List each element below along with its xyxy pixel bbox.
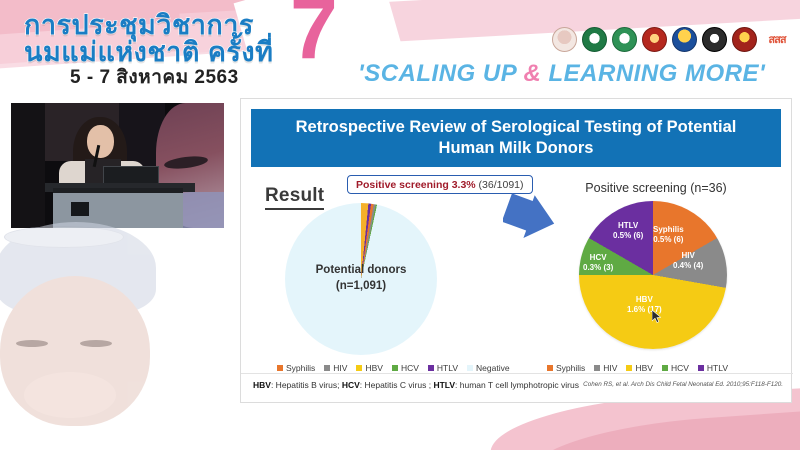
- legend2-item-syphilis[interactable]: Syphilis: [547, 363, 585, 373]
- legend2-label-hbv: HBV: [635, 363, 652, 373]
- tagline-ampersand: &: [524, 60, 542, 87]
- sponsor-logo-row: สสส: [552, 25, 792, 53]
- footnote-key-htlv: HTLV: [433, 380, 455, 390]
- legend-item-syphilis[interactable]: Syphilis: [277, 363, 315, 373]
- potential-donors-label-line-1: Potential donors: [285, 263, 437, 279]
- slice-value-hiv: 0.4% (4): [673, 261, 703, 271]
- legend2-swatch-htlv: [698, 365, 704, 371]
- screen: การประชุมวิชาการ นมแม่แห่งชาติ ครั้งที่ …: [0, 0, 800, 450]
- baby-watermark-image: [0, 222, 172, 422]
- slice-name-hbv: HBV: [627, 295, 662, 305]
- legend2-item-hiv[interactable]: HIV: [594, 363, 617, 373]
- potential-donors-label-line-2: (n=1,091): [285, 279, 437, 295]
- legend2-label-hcv: HCV: [671, 363, 689, 373]
- watermark-baby-eye-left: [16, 340, 48, 347]
- pie-slice-label-htlv: HTLV 0.5% (6): [613, 221, 643, 242]
- positive-screening-pie-chart[interactable]: [579, 201, 727, 349]
- podium-badge: [71, 202, 89, 216]
- pie-slice-label-hiv: HIV 0.4% (4): [673, 251, 703, 272]
- footnote-text-hbv: : Hepatitis B virus;: [271, 380, 342, 390]
- footnote-text-htlv: : human T cell lymphotropic virus: [455, 380, 579, 390]
- slice-value-syphilis: 0.5% (6): [653, 235, 684, 245]
- legend2-item-hcv[interactable]: HCV: [662, 363, 689, 373]
- legend-swatch-hiv: [324, 365, 330, 371]
- conference-date: 5 - 7 สิงหาคม 2563: [70, 62, 239, 92]
- legend-item-htlv[interactable]: HTLV: [428, 363, 458, 373]
- logo-green-seal-2: [612, 27, 637, 52]
- conference-header-banner: การประชุมวิชาการ นมแม่แห่งชาติ ครั้งที่ …: [0, 0, 800, 92]
- slice-name-hiv: HIV: [673, 251, 703, 261]
- footnote-text-hcv: : Hepatitis C virus ;: [360, 380, 434, 390]
- slice-name-htlv: HTLV: [613, 221, 643, 231]
- logo-black-seal: [702, 27, 727, 52]
- legend-label-htlv: HTLV: [437, 363, 458, 373]
- legend2-item-htlv[interactable]: HTLV: [698, 363, 728, 373]
- source-citation: Cohen RS, et al. Arch Dis Child Fetal Ne…: [583, 381, 783, 388]
- conference-edition-number: 7: [290, 0, 338, 72]
- slice-value-htlv: 0.5% (6): [613, 231, 643, 241]
- speaker-video-feed[interactable]: [11, 103, 224, 228]
- logo-ministry-emblem: [672, 27, 697, 52]
- legend-positive-screening: Syphilis HIV HBV HCV HTLV: [547, 363, 728, 373]
- legend2-label-hiv: HIV: [603, 363, 617, 373]
- legend-label-hiv: HIV: [333, 363, 347, 373]
- blue-arrow-icon: [503, 193, 557, 241]
- legend-swatch-hcv: [392, 365, 398, 371]
- video-background-wall-left: [11, 103, 45, 228]
- legend2-label-htlv: HTLV: [707, 363, 728, 373]
- legend-swatch-hbv: [356, 365, 362, 371]
- legend2-item-hbv[interactable]: HBV: [626, 363, 652, 373]
- legend2-label-syphilis: Syphilis: [556, 363, 585, 373]
- slice-name-hcv: HCV: [583, 253, 613, 263]
- logo-red-emblem: [642, 27, 667, 52]
- legend-item-hbv[interactable]: HBV: [356, 363, 382, 373]
- slice-value-hcv: 0.3% (3): [583, 263, 613, 273]
- logo-thaihealth: สสส: [762, 27, 792, 52]
- legend2-swatch-hiv: [594, 365, 600, 371]
- tagline-text-1: 'SCALING UP: [358, 60, 524, 87]
- legend-swatch-syphilis: [277, 365, 283, 371]
- conference-tagline: 'SCALING UP & LEARNING MORE': [358, 60, 765, 88]
- potential-donors-center-label: Potential donors (n=1,091): [285, 263, 437, 294]
- watermark-cap-ribbing: [4, 226, 124, 248]
- legend-label-syphilis: Syphilis: [286, 363, 315, 373]
- slide-footnote-bar: HBV: Hepatitis B virus; HCV: Hepatitis C…: [241, 373, 793, 402]
- legend-label-negative: Negative: [476, 363, 510, 373]
- footnote-key-hcv: HCV: [342, 380, 360, 390]
- pie-slice-label-syphilis: Syphilis 0.5% (6): [653, 225, 684, 246]
- legend-label-hcv: HCV: [401, 363, 419, 373]
- positive-screening-chart-title: Positive screening (n=36): [541, 181, 771, 195]
- legend-item-hiv[interactable]: HIV: [324, 363, 347, 373]
- legend2-swatch-hbv: [626, 365, 632, 371]
- legend-swatch-negative: [467, 365, 473, 371]
- laptop-on-podium: [103, 166, 159, 184]
- logo-crimson-seal: [732, 27, 757, 52]
- logo-green-seal-1: [582, 27, 607, 52]
- abbreviations-footnote: HBV: Hepatitis B virus; HCV: Hepatitis C…: [253, 380, 579, 390]
- speaker-face: [87, 125, 114, 158]
- callout-main-text: Positive screening 3.3%: [356, 179, 476, 191]
- mouse-cursor-icon: [652, 310, 661, 323]
- footnote-key-hbv: HBV: [253, 380, 271, 390]
- legend2-swatch-hcv: [662, 365, 668, 371]
- watermark-baby-cheek: [24, 372, 116, 418]
- legend-item-negative[interactable]: Negative: [467, 363, 510, 373]
- slide-title: Retrospective Review of Serological Test…: [251, 109, 781, 167]
- slide-body: Result Positive screening 3.3% (36/1091)…: [241, 167, 791, 385]
- pie-slice-label-hcv: HCV 0.3% (3): [583, 253, 613, 274]
- legend-swatch-htlv: [428, 365, 434, 371]
- presentation-slide: Retrospective Review of Serological Test…: [240, 98, 792, 403]
- legend-potential-donors: Syphilis HIV HBV HCV HTLV Negative: [277, 363, 510, 373]
- slice-name-syphilis: Syphilis: [653, 225, 684, 235]
- legend-label-hbv: HBV: [365, 363, 382, 373]
- tagline-text-2: LEARNING MORE': [541, 60, 765, 87]
- watermark-baby-eye-right: [80, 340, 112, 347]
- result-heading: Result: [265, 185, 324, 210]
- callout-sub-text: (36/1091): [476, 179, 524, 191]
- logo-buddha-seal: [552, 27, 577, 52]
- positive-screening-callout: Positive screening 3.3% (36/1091): [347, 175, 533, 194]
- legend2-swatch-syphilis: [547, 365, 553, 371]
- legend-item-hcv[interactable]: HCV: [392, 363, 419, 373]
